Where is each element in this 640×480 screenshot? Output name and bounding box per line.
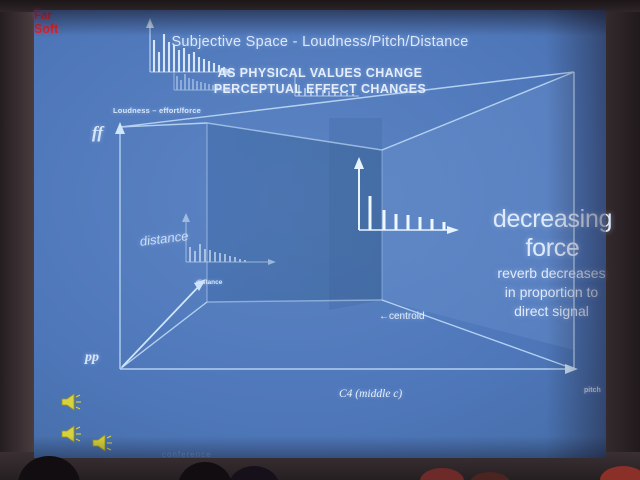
dynamic-marker-ff: ff xyxy=(92,123,103,143)
dynamic-marker-pp: pp xyxy=(85,350,99,366)
distance-axis-label: distance xyxy=(196,279,222,286)
projection-screen: Subjective Space - Loudness/Pitch/Distan… xyxy=(34,10,606,458)
slide-subtitle-line2: PERCEPTUAL EFFECT CHANGES xyxy=(34,82,606,96)
speaker-icon xyxy=(60,393,82,411)
presentation-photo: Subjective Space - Loudness/Pitch/Distan… xyxy=(0,0,640,480)
distance-axis-arrow xyxy=(122,279,206,367)
pitch-tick-label: C4 (middle c) xyxy=(339,388,402,400)
centroid-annotation: ←centroid xyxy=(379,311,425,322)
loudness-axis-label: Loudness – effort/force xyxy=(113,106,201,115)
room-wall-left xyxy=(0,0,34,480)
slide-title: Subjective Space - Loudness/Pitch/Distan… xyxy=(34,34,606,50)
loudness-axis-arrowhead xyxy=(115,122,125,134)
shadow-column xyxy=(329,118,382,310)
slide-subtitle-line1: AS PHYSICAL VALUES CHANGE xyxy=(34,66,606,80)
